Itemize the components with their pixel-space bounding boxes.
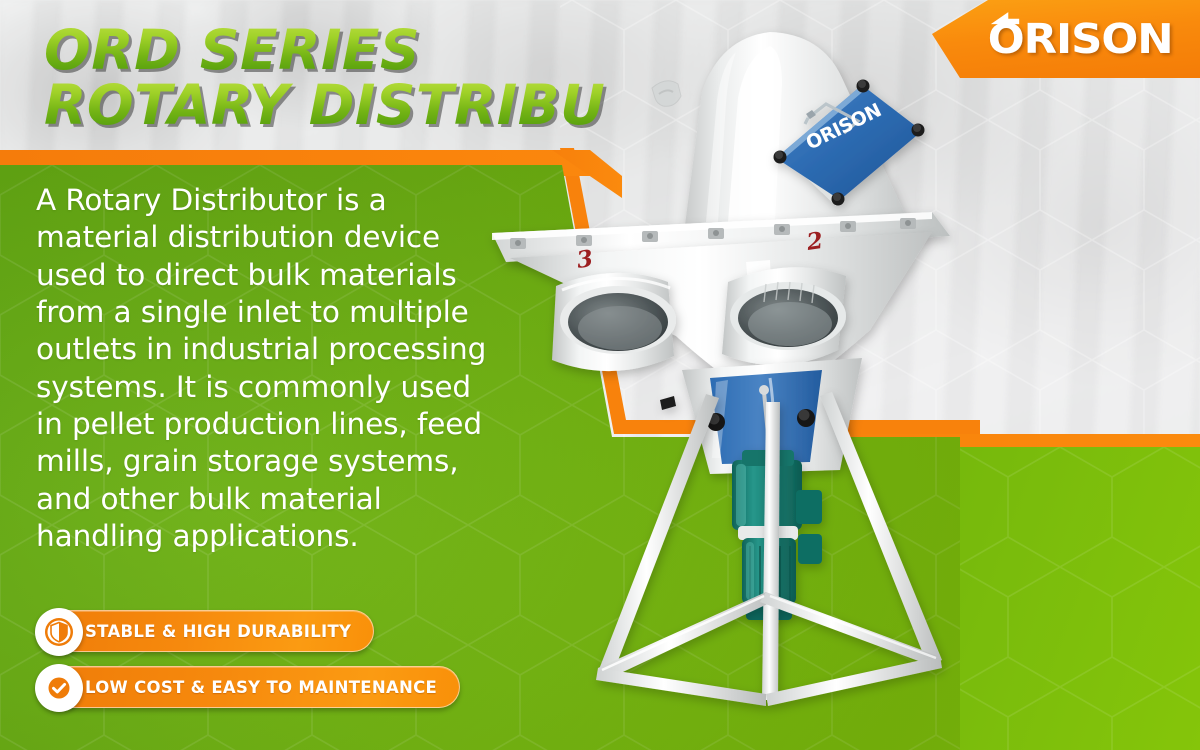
feature-badge-label: STABLE & HIGH DURABILITY	[85, 622, 351, 641]
brand-logo-banner[interactable]: ORISON	[932, 0, 1200, 78]
banner-stage: ORISON	[0, 0, 1200, 750]
product-description: A Rotary Distributor is a material distr…	[36, 182, 506, 555]
feature-badge-label: LOW COST & EASY TO MAINTENANCE	[85, 678, 437, 697]
page-title: ORD SERIES ROTARY DISTRIBUTOR	[44, 24, 604, 132]
title-line-1: ORD SERIES	[44, 24, 604, 77]
check-circle-icon	[35, 664, 83, 712]
arrow-mark-icon	[988, 10, 1022, 34]
feature-badge-stable-durability[interactable]: STABLE & HIGH DURABILITY	[40, 610, 374, 652]
feature-badge-list: STABLE & HIGH DURABILITY LOW COST & EASY…	[40, 610, 460, 722]
feature-badge-low-cost-maintenance[interactable]: LOW COST & EASY TO MAINTENANCE	[40, 666, 460, 708]
shield-icon	[35, 608, 83, 656]
title-line-2: ROTARY DISTRIBUTOR	[44, 79, 604, 132]
